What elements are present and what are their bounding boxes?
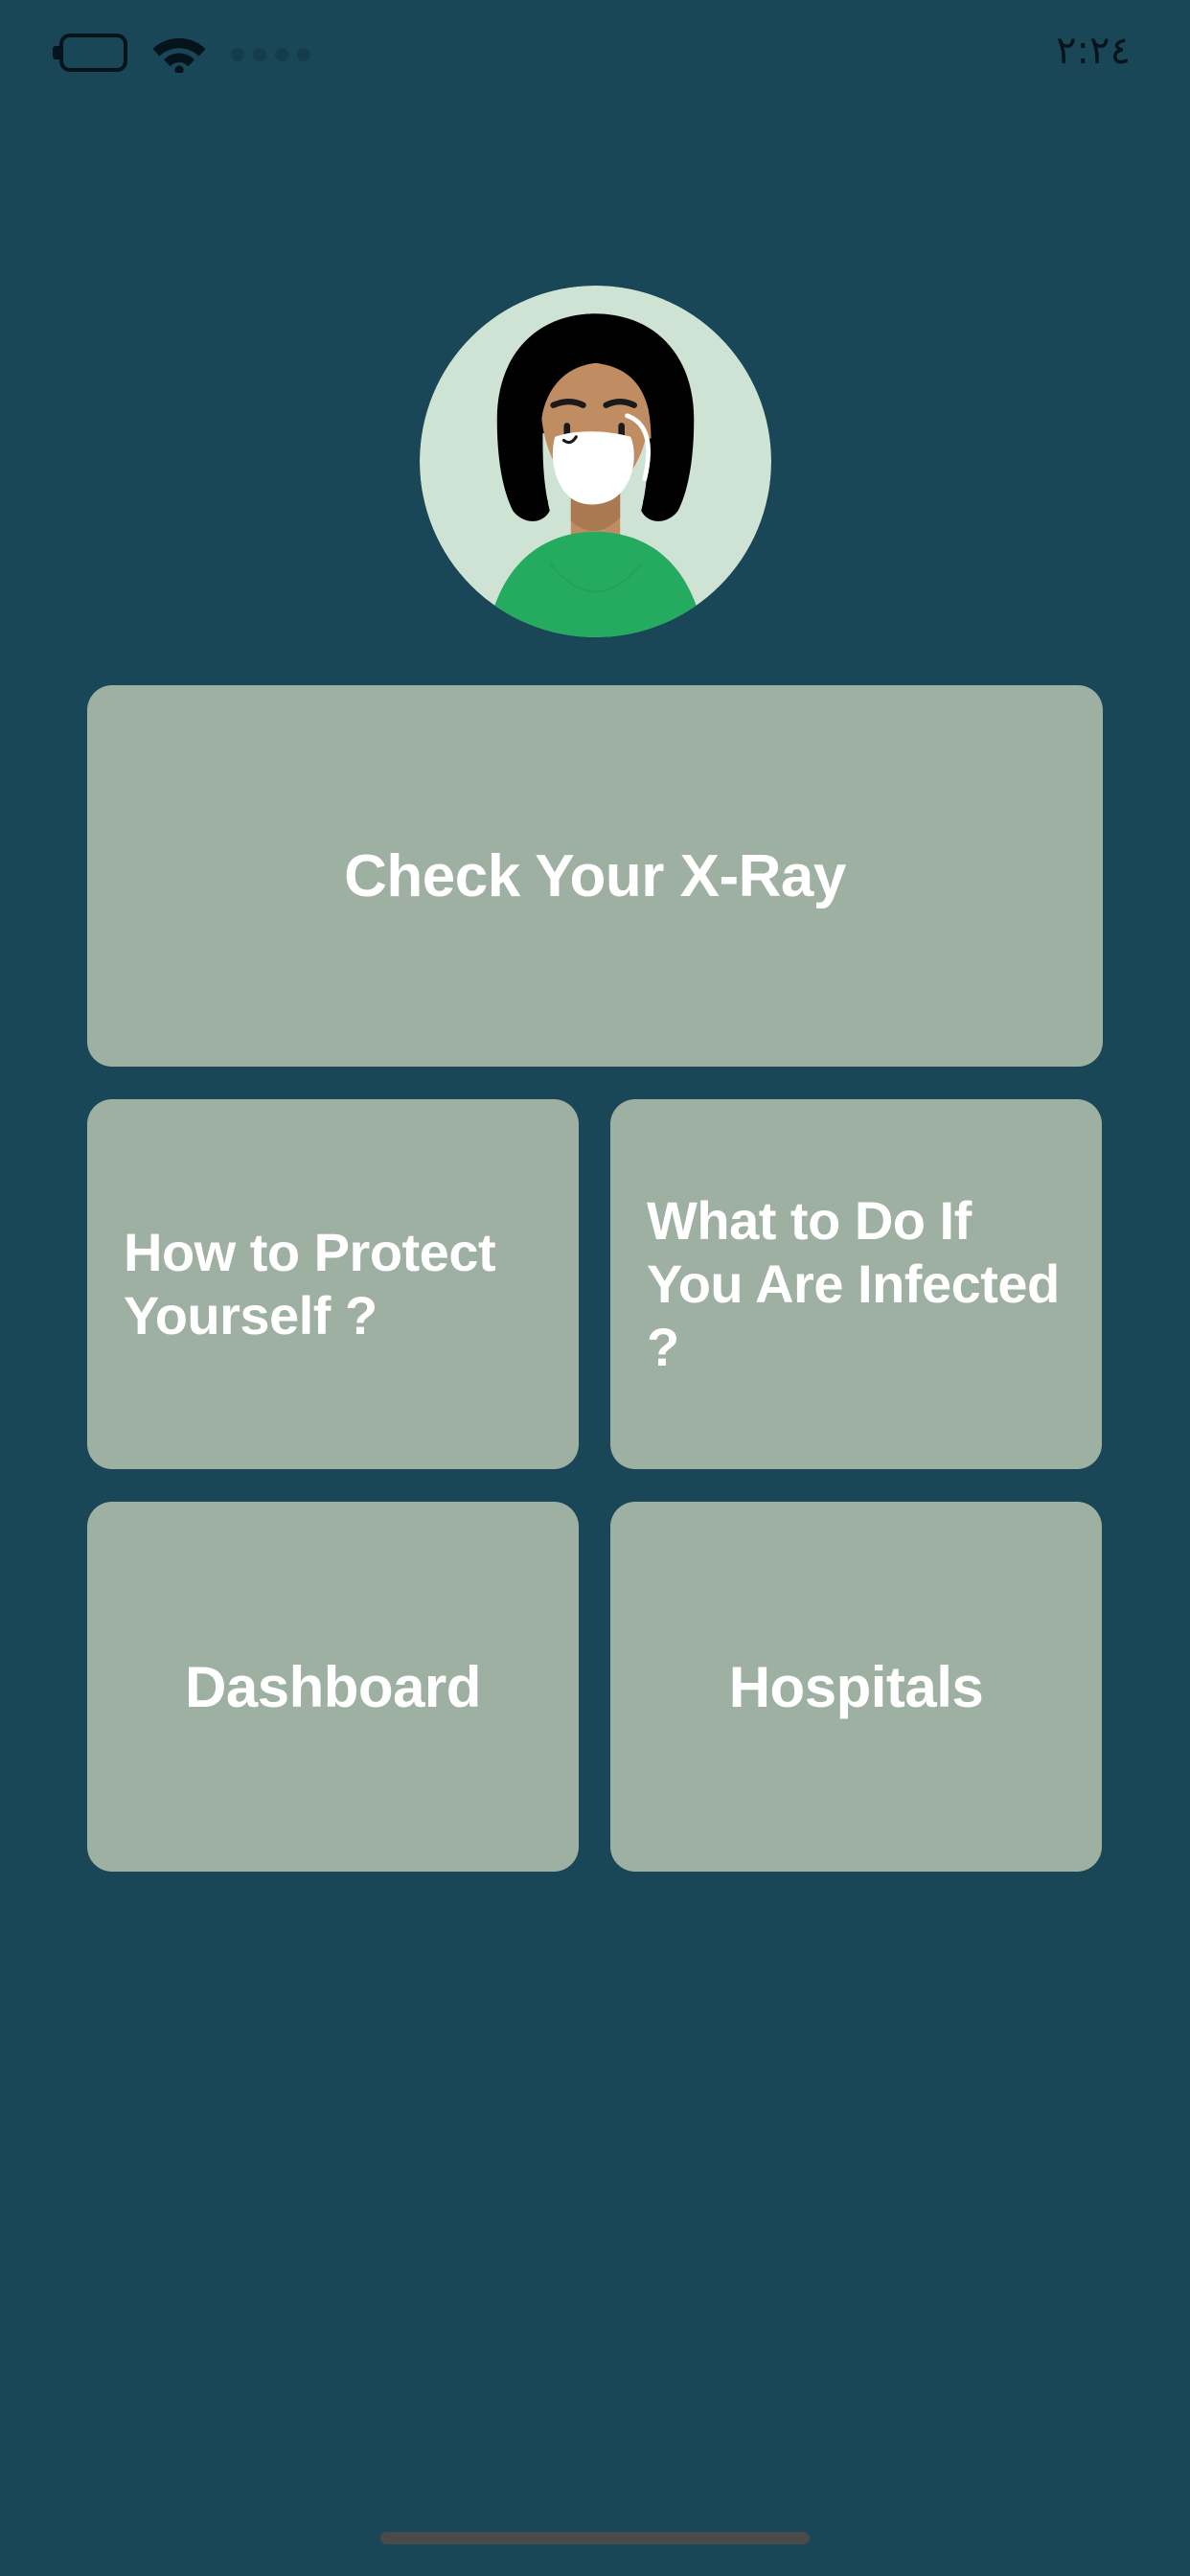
status-bar-time: ٢:٢٤ — [1056, 29, 1131, 73]
signal-dots-icon — [231, 48, 310, 61]
status-bar: ٢:٢٤ — [0, 0, 1190, 92]
home-indicator[interactable] — [380, 2532, 810, 2544]
menu-card-label: Check Your X-Ray — [344, 842, 846, 910]
battery-icon — [53, 34, 127, 72]
menu-card-check-your-xray[interactable]: Check Your X-Ray — [87, 685, 1103, 1067]
menu-row-2: Dashboard Hospitals — [87, 1502, 1103, 1872]
menu-card-hospitals[interactable]: Hospitals — [610, 1502, 1102, 1872]
masked-woman-avatar — [420, 286, 771, 637]
menu-card-label: Hospitals — [729, 1654, 984, 1720]
menu-grid: Check Your X-Ray How to Protect Yourself… — [87, 685, 1103, 1904]
wifi-icon — [152, 33, 206, 73]
menu-card-what-to-do-if-infected[interactable]: What to Do If You Are Infected ? — [610, 1099, 1102, 1469]
menu-card-how-to-protect-yourself[interactable]: How to Protect Yourself ? — [87, 1099, 579, 1469]
menu-row-1: How to Protect Yourself ? What to Do If … — [87, 1099, 1103, 1469]
menu-card-dashboard[interactable]: Dashboard — [87, 1502, 579, 1872]
avatar-container — [0, 286, 1190, 637]
menu-card-label: What to Do If You Are Infected ? — [647, 1189, 1065, 1379]
menu-card-label: How to Protect Yourself ? — [124, 1221, 542, 1347]
menu-card-label: Dashboard — [185, 1654, 481, 1720]
status-bar-left-icons — [53, 33, 310, 73]
